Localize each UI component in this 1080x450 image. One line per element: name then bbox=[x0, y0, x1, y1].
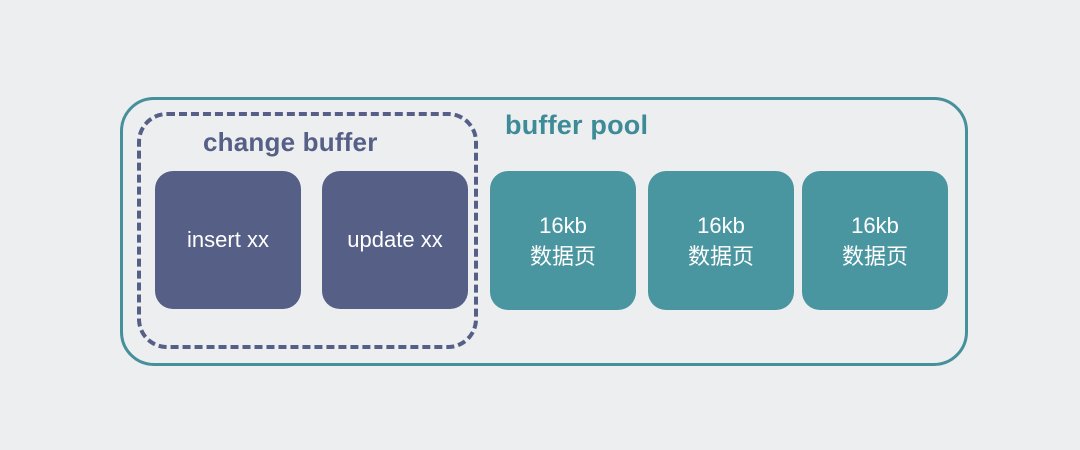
data-page-card-2-size: 16kb bbox=[697, 210, 745, 241]
data-page-card-1-size: 16kb bbox=[539, 210, 587, 241]
data-page-card-2: 16kb 数据页 bbox=[648, 171, 794, 310]
change-buffer-entry-insert-label: insert xx bbox=[187, 227, 269, 253]
data-page-card-1: 16kb 数据页 bbox=[490, 171, 636, 310]
data-page-card-2-name: 数据页 bbox=[688, 241, 754, 272]
change-buffer-entry-update: update xx bbox=[322, 171, 468, 309]
data-page-card-1-name: 数据页 bbox=[530, 241, 596, 272]
diagram-canvas: buffer pool change buffer insert xx upda… bbox=[0, 0, 1080, 450]
change-buffer-label: change buffer bbox=[203, 126, 378, 158]
change-buffer-entry-insert: insert xx bbox=[155, 171, 301, 309]
data-page-card-3-name: 数据页 bbox=[842, 241, 908, 272]
data-page-card-3-size: 16kb bbox=[851, 210, 899, 241]
buffer-pool-label: buffer pool bbox=[505, 108, 648, 142]
change-buffer-entry-update-label: update xx bbox=[347, 227, 442, 253]
data-page-card-3: 16kb 数据页 bbox=[802, 171, 948, 310]
